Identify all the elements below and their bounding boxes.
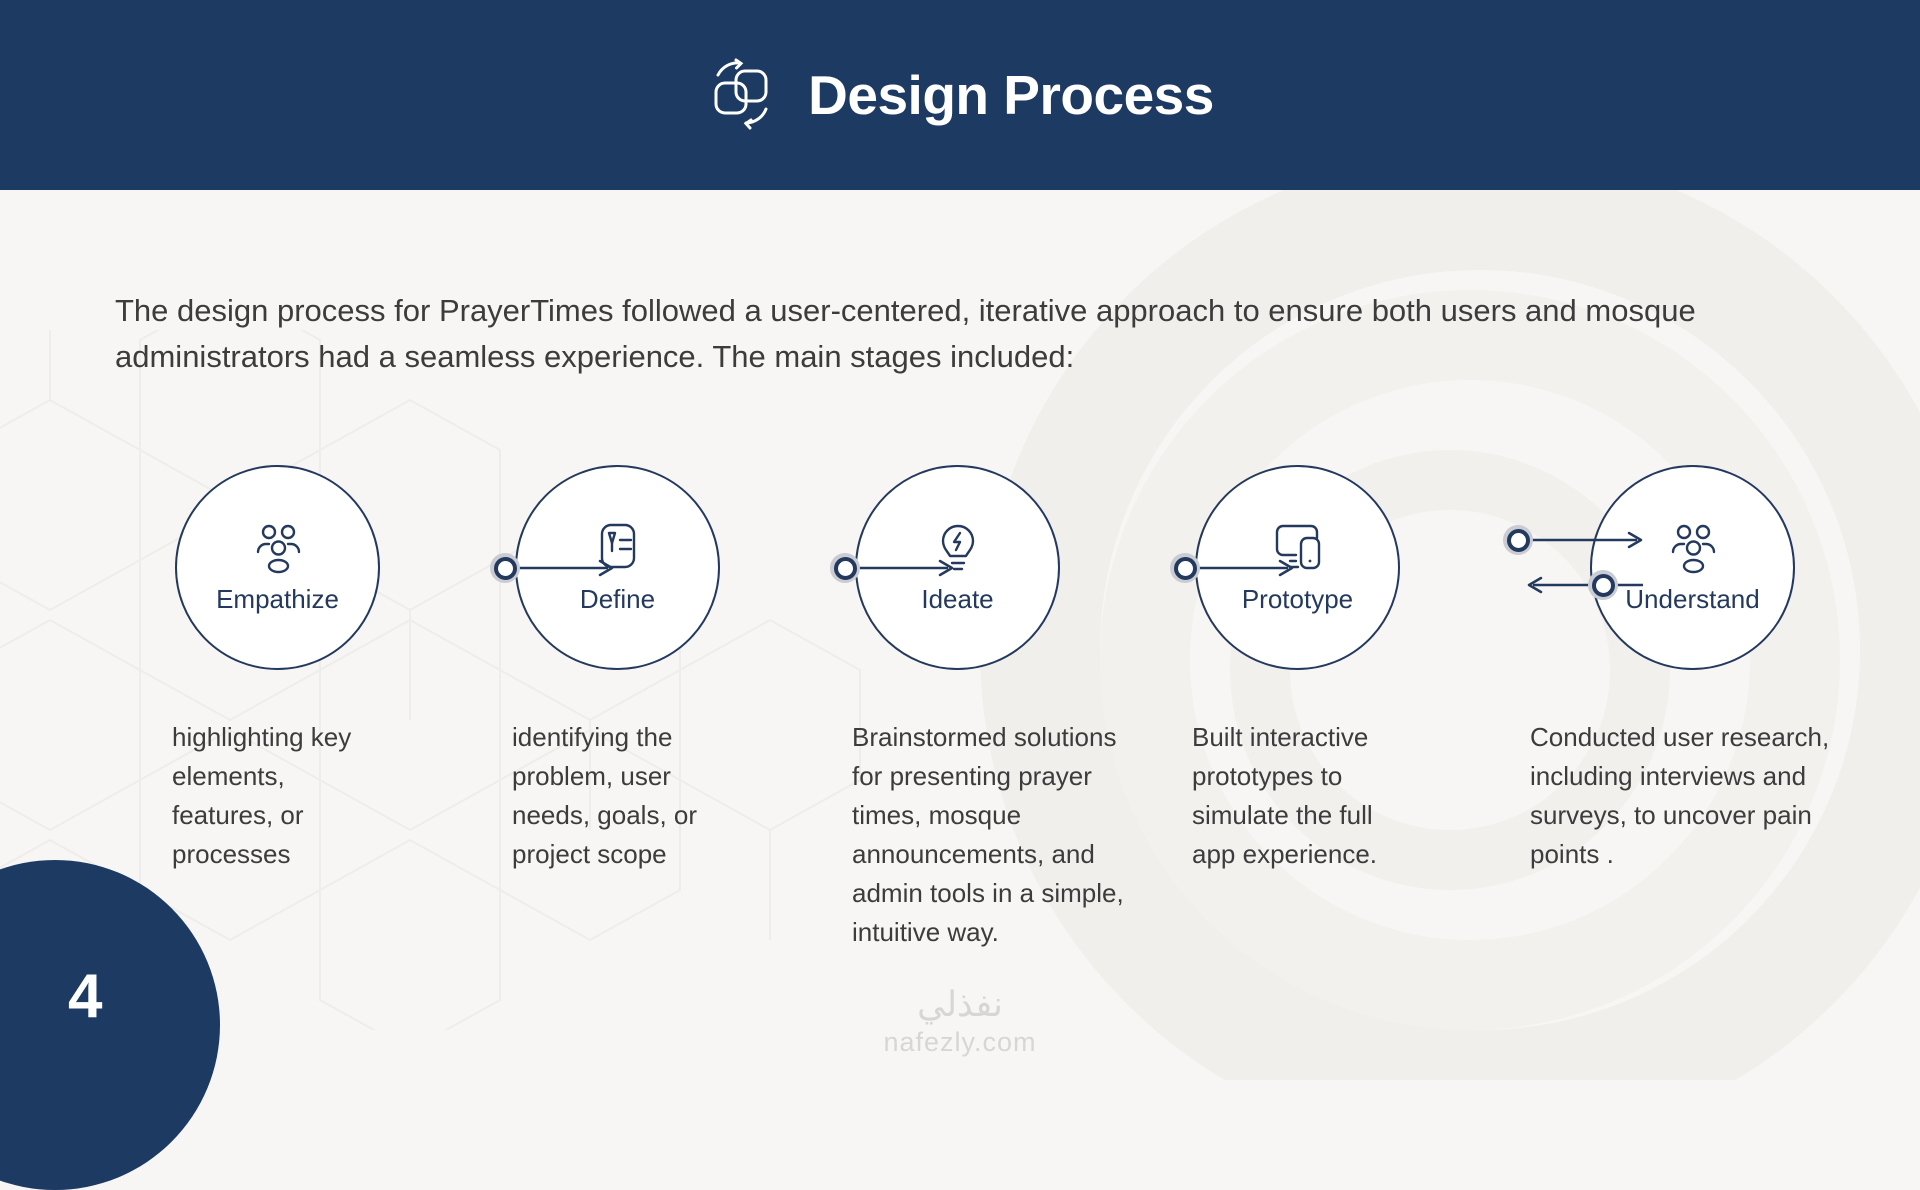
connector-node-4 — [1503, 525, 1533, 555]
connector-node-3 — [1170, 553, 1200, 583]
stage-label-ideate: Ideate — [921, 584, 993, 615]
page-number: 4 — [68, 961, 102, 1032]
stage-circle-empathize[interactable]: Empathize — [175, 465, 380, 670]
users-group-icon — [1665, 520, 1721, 576]
stage-description-prototype: Built interactive prototypes to simulate… — [1192, 718, 1422, 874]
watermark-arabic: نفذلي — [883, 985, 1036, 1025]
stage-label-empathize: Empathize — [216, 584, 339, 615]
page-number-badge — [0, 860, 220, 1190]
overlapping-squares-refresh-icon — [706, 57, 782, 133]
design-process-diagram: Empathize Define — [175, 465, 1795, 675]
stage-label-prototype: Prototype — [1242, 584, 1353, 615]
intro-paragraph: The design process for PrayerTimes follo… — [115, 288, 1855, 380]
connector-node-5 — [1588, 570, 1618, 600]
page-header: Design Process — [0, 0, 1920, 190]
stage-description-understand: Conducted user research, including inter… — [1530, 718, 1865, 874]
stage-description-empathize: highlighting key elements, features, or … — [172, 718, 387, 874]
stage-empathize[interactable]: Empathize — [175, 465, 380, 670]
stage-description-ideate: Brainstormed solutions for presenting pr… — [852, 718, 1152, 952]
stage-description-define: identifying the problem, user needs, goa… — [512, 718, 727, 874]
connector-node-2 — [830, 553, 860, 583]
page-title: Design Process — [808, 63, 1214, 127]
watermark: نفذلي nafezly.com — [883, 985, 1036, 1058]
connector-node-1 — [490, 553, 520, 583]
watermark-url: nafezly.com — [883, 1027, 1036, 1058]
stage-label-define: Define — [580, 584, 655, 615]
users-group-icon — [250, 520, 306, 576]
